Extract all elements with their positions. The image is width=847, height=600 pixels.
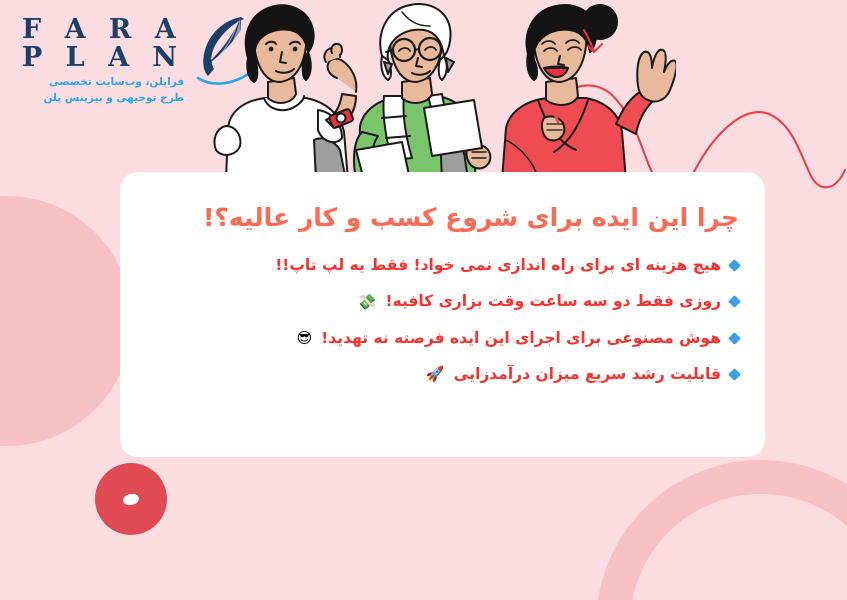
pale-circle-bottom-right-decoration [648,510,847,600]
pink-ring-bottom-right-decoration [596,460,847,600]
three-women-meeting-illustration [206,0,676,180]
content-card: چرا این ایده برای شروع کسب و کار عالیه؟!… [120,172,765,457]
list-item-emoji: 😎 [297,329,313,347]
list-item-label: روزی فقط دو سه ساعت وقت بزاری کافیه! [385,290,721,313]
pink-circle-left-decoration [0,196,132,446]
list-item-label: هوش مصنوعی برای اجرای این ایده فرصته نه … [321,327,721,350]
list-item-label: قابلیت رشد سریع میزان درآمدزایی [454,363,721,386]
brand-name-line-1: F A R A [22,16,184,44]
diamond-bullet-icon [728,296,741,309]
page-title: چرا این ایده برای شروع کسب و کار عالیه؟! [120,172,765,238]
figure-woman-black-bob [214,5,356,180]
list-item: قابلیت رشد سریع میزان درآمدزایی 🚀 [146,363,739,386]
diamond-bullet-icon [728,368,741,381]
list-item: هیچ هزینه ای برای راه اندازی نمی خواد! ف… [146,254,739,277]
list-item-label: هیچ هزینه ای برای راه اندازی نمی خواد! ف… [275,254,721,277]
diamond-bullet-icon [728,259,741,272]
list-item: هوش مصنوعی برای اجرای این ایده فرصته نه … [146,327,739,350]
brand-name-line-2: P L A N [22,44,184,72]
benefits-list: هیچ هزینه ای برای راه اندازی نمی خواد! ف… [120,254,765,386]
brand-tagline-line-2: طرح توجیهی و بیزینس پلن [22,91,184,107]
figure-woman-white-hair-glasses [354,4,490,180]
diamond-bullet-icon [728,332,741,345]
red-donut-decoration [95,463,167,535]
list-item-emoji: 🚀 [426,365,445,383]
list-item: روزی فقط دو سه ساعت وقت بزاری کافیه! 💸 [146,290,739,313]
list-item-emoji: 💸 [358,293,377,311]
slide-canvas: F A R A P L A N فراپلن، وب‌سایت تخصصی طر… [0,0,847,600]
donut-hole [122,492,140,506]
figure-woman-bun-red-waving [502,5,676,180]
brand-tagline-line-1: فراپلن، وب‌سایت تخصصی [22,75,184,91]
